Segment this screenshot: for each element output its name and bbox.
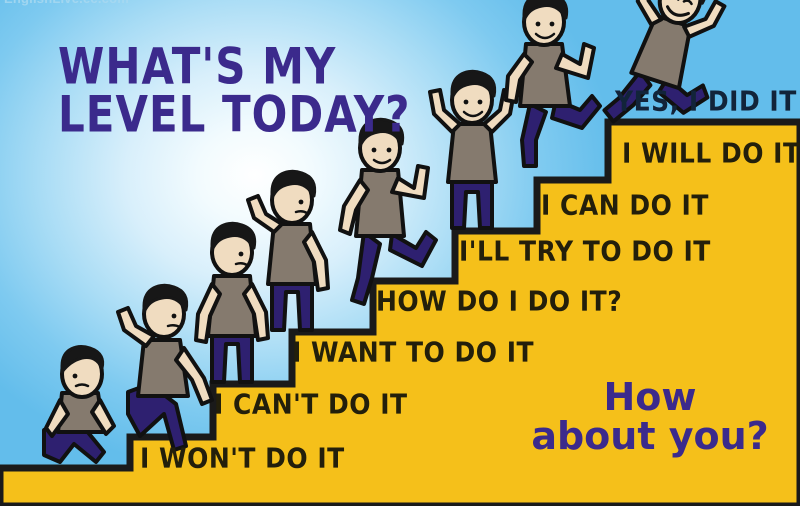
outro-line-2: about you?: [520, 417, 780, 456]
step-label-4: HOW DO I DO IT?: [376, 285, 622, 317]
figure-arms-raised-cheering: [430, 71, 514, 228]
figure-standing-looking-up: [196, 223, 268, 382]
figure-running-flexing: [506, 0, 600, 166]
watermark-text: EnglishLive.ec.com: [4, 0, 129, 6]
figure-sitting-on-ground: [44, 347, 114, 462]
page-title: What's My Level Today?: [58, 42, 411, 139]
step-label-7: I WILL DO IT: [622, 137, 800, 169]
infographic-canvas: EnglishLive.ec.com: [0, 0, 800, 506]
figure-stepping-up: [340, 119, 436, 304]
step-label-8: YES, I DID IT!: [615, 85, 800, 117]
page-title-line-2: Level Today?: [58, 86, 411, 144]
outro-question: How about you?: [520, 378, 780, 456]
step-label-6: I CAN DO IT: [541, 189, 709, 221]
step-label-5: I'LL TRY TO DO IT: [459, 235, 711, 267]
step-label-3: I WANT TO DO IT: [292, 336, 534, 368]
step-label-2: I CAN'T DO IT: [214, 388, 408, 420]
step-label-1: I WON'T DO IT: [140, 442, 345, 474]
outro-line-1: How: [520, 378, 780, 417]
